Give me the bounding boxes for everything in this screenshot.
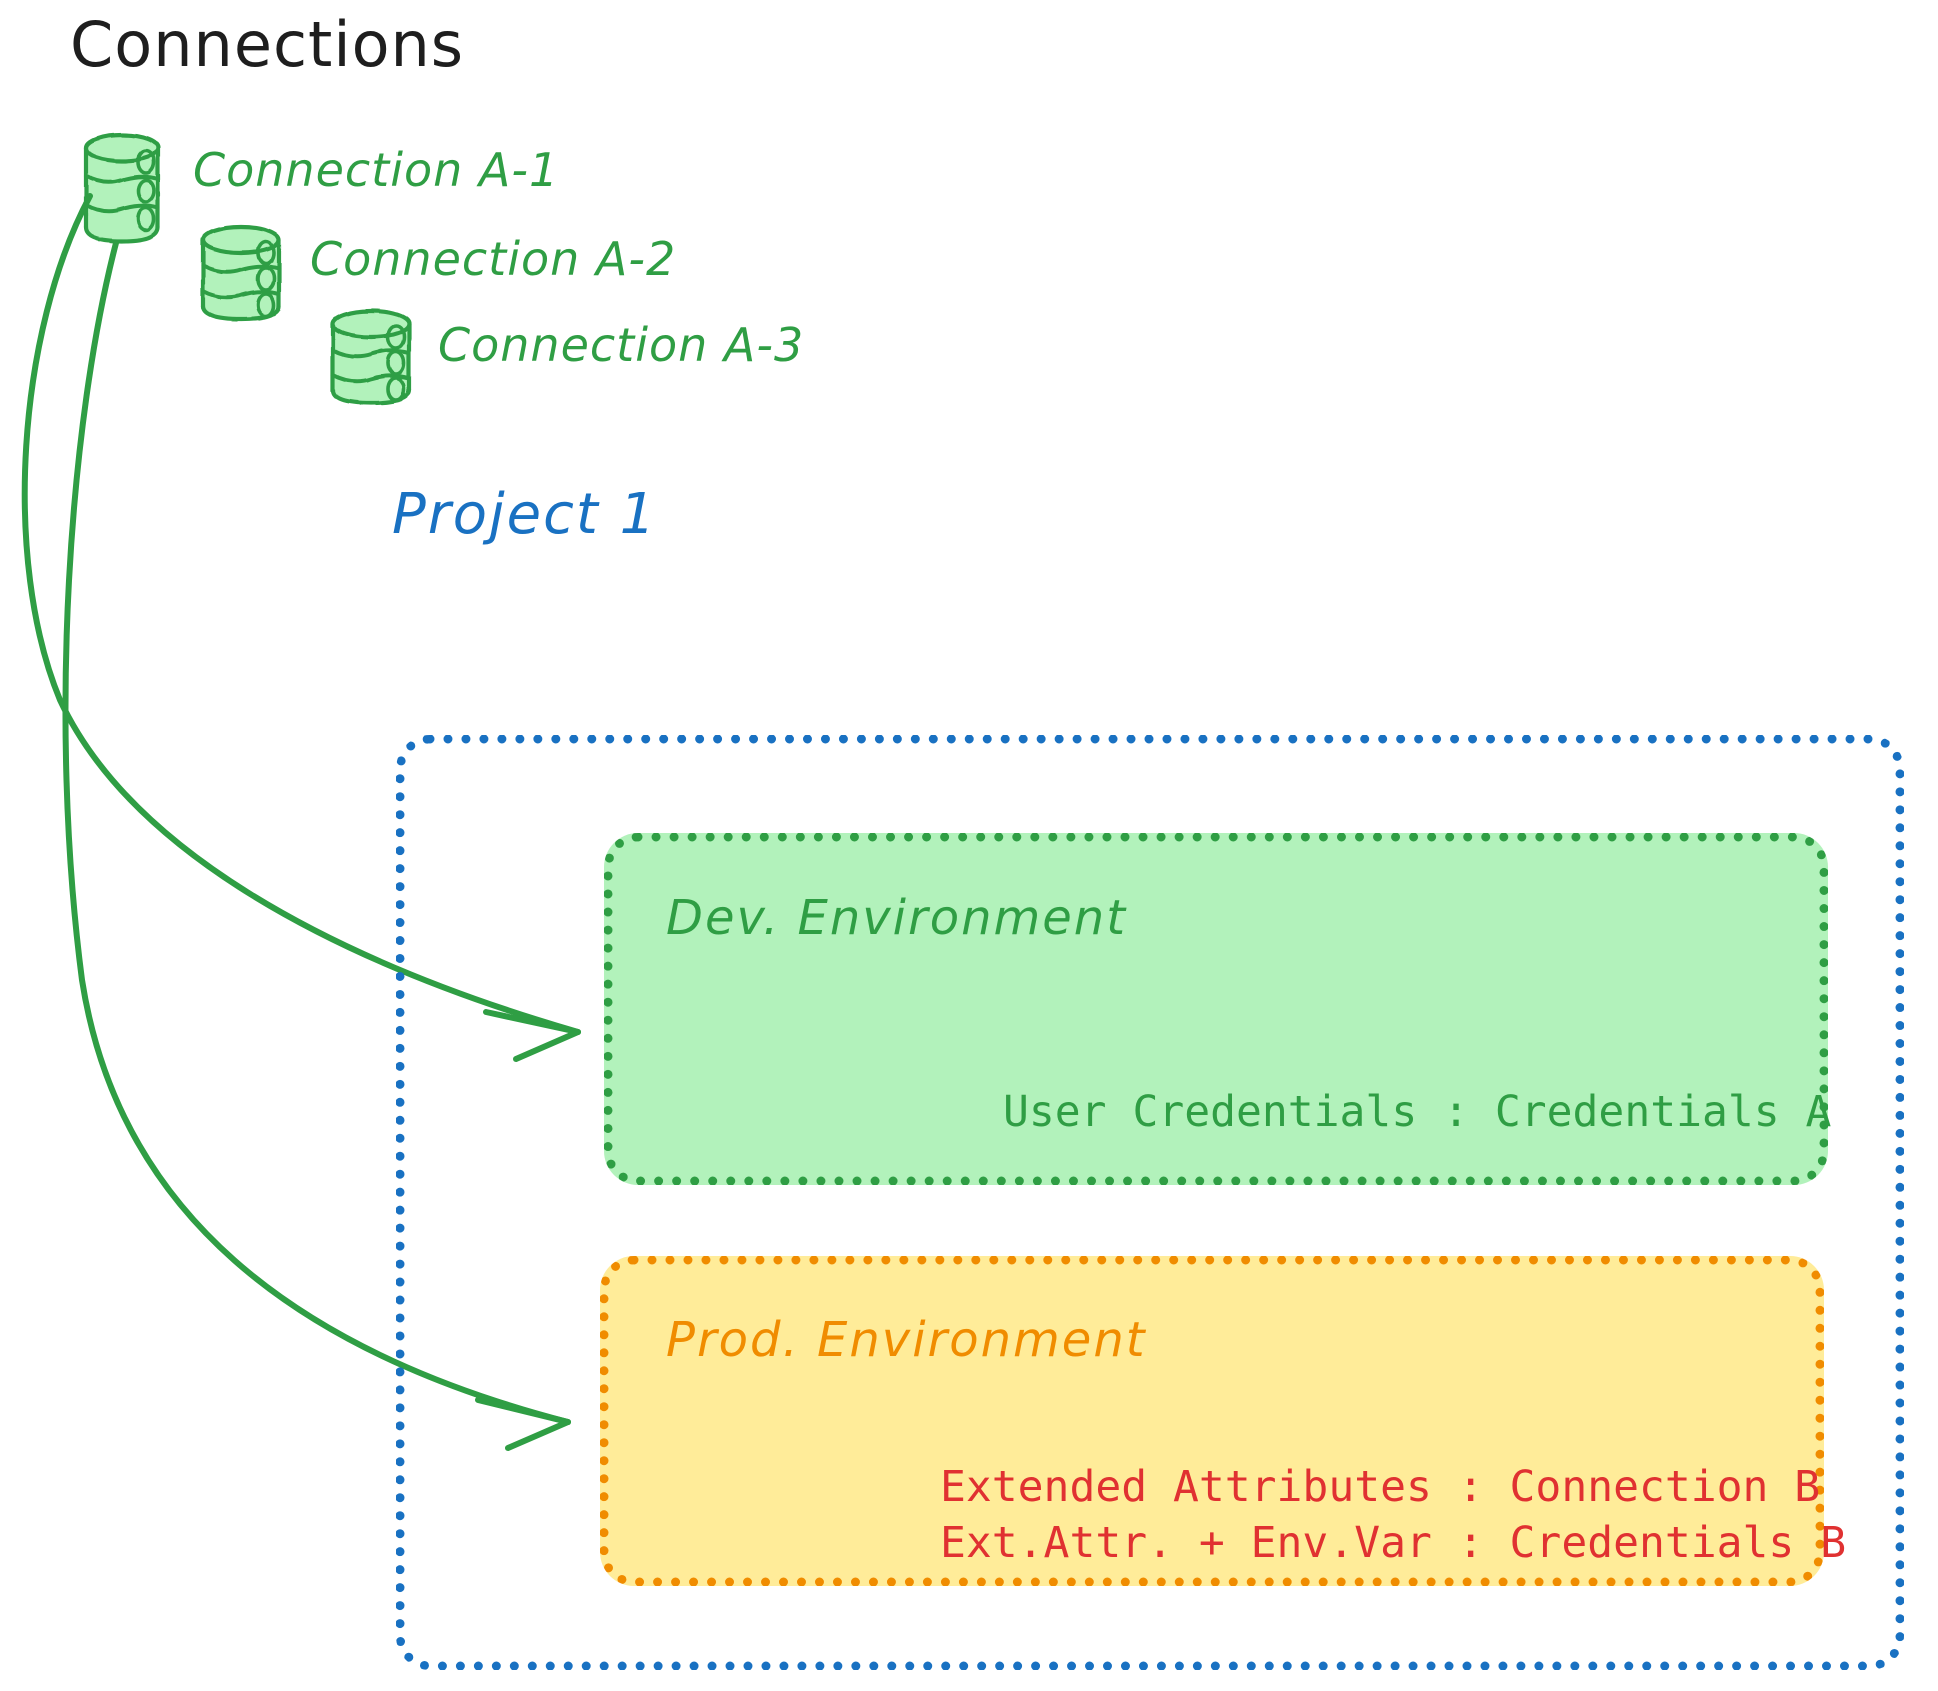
prod-environment-credentials-line: Ext.Attr. + Env.Var : Credentials B bbox=[940, 1518, 1846, 1568]
connection-label-a1: Connection A-1 bbox=[193, 143, 559, 197]
database-cylinder-icon-a2 bbox=[203, 227, 279, 320]
database-cylinder-icon-a1 bbox=[86, 135, 158, 243]
connection-label-a2: Connection A-2 bbox=[310, 232, 676, 286]
dev-environment-credentials-line: User Credentials : Credentials A bbox=[1003, 1087, 1831, 1137]
prod-environment-attributes-line: Extended Attributes : Connection B bbox=[940, 1462, 1820, 1512]
prod-environment-heading: Prod. Environment bbox=[666, 1312, 1147, 1368]
page-title: Connections bbox=[70, 8, 464, 81]
database-cylinder-icon-a3 bbox=[333, 311, 409, 404]
dev-environment-heading: Dev. Environment bbox=[666, 890, 1127, 946]
diagram-canvas: Connections bbox=[0, 0, 1938, 1691]
connection-label-a3: Connection A-3 bbox=[438, 318, 804, 372]
project-title: Project 1 bbox=[392, 482, 657, 547]
